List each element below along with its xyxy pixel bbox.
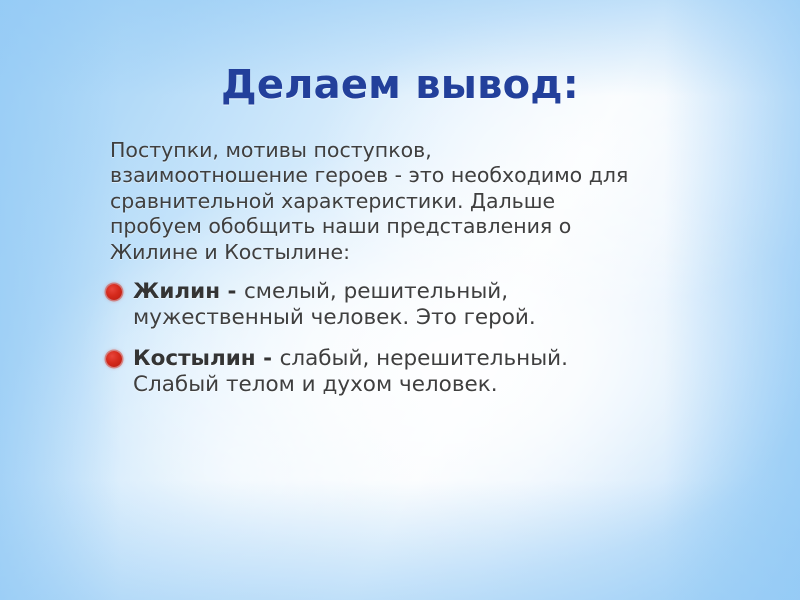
slide-title: Делаем вывод:: [0, 62, 800, 108]
bullet-text-line1: слабый, нерешительный.: [280, 346, 568, 371]
bullet-text-line2: мужественный человек. Это герой.: [133, 305, 690, 331]
slide-body: Поступки, мотивы поступков, взаимоотноше…: [110, 138, 690, 397]
lead-paragraph: Поступки, мотивы поступков, взаимоотноше…: [110, 138, 690, 265]
list-item: Костылин - слабый, нерешительный. Слабый…: [110, 346, 690, 397]
bullet-lead-label: Жилин -: [133, 279, 244, 304]
conclusion-bullet-list: Жилин - смелый, решительный, мужественны…: [110, 279, 690, 397]
bullet-text-line2: Слабый телом и духом человек.: [133, 372, 690, 398]
bullet-lead-label: Костылин -: [133, 346, 280, 371]
red-circle-bullet-icon: [106, 284, 122, 300]
presentation-slide: Делаем вывод: Поступки, мотивы поступков…: [0, 0, 800, 600]
slide-content: Делаем вывод: Поступки, мотивы поступков…: [0, 0, 800, 600]
red-circle-bullet-icon: [106, 351, 122, 367]
bullet-text-line1: смелый, решительный,: [244, 279, 508, 304]
list-item: Жилин - смелый, решительный, мужественны…: [110, 279, 690, 330]
